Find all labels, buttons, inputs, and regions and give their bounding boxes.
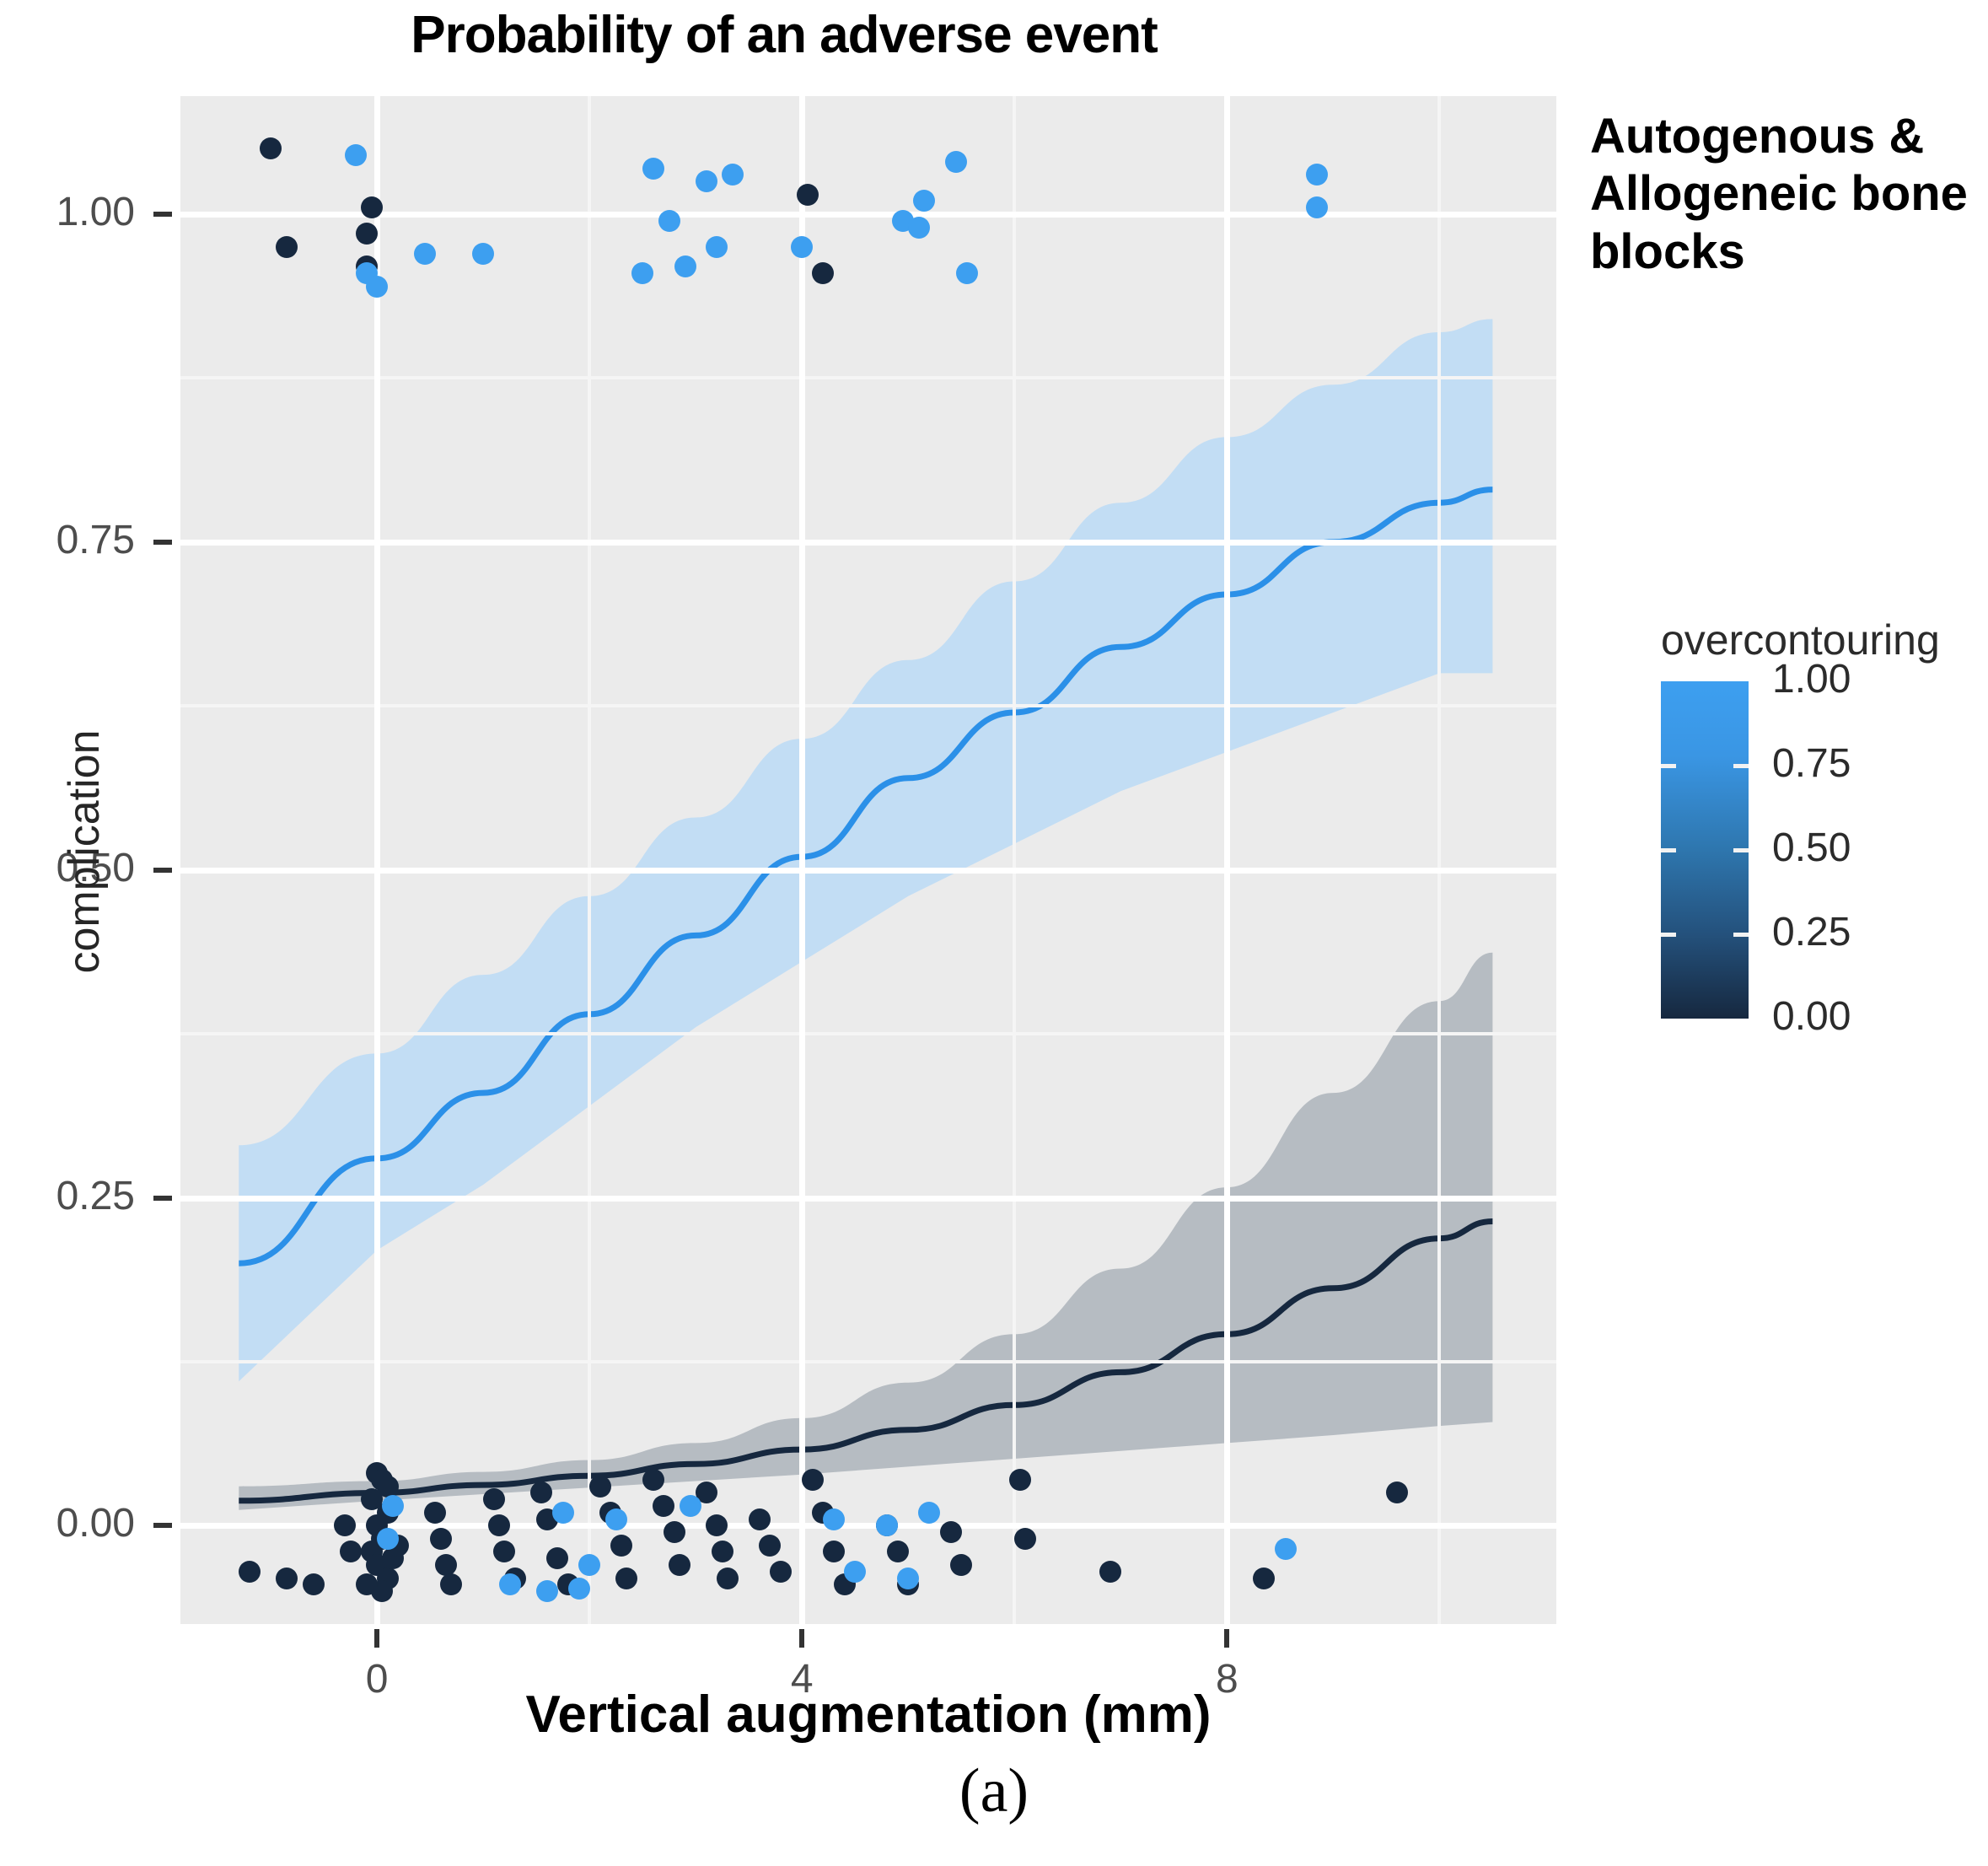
scatter-point-overcontouring-1 (876, 1514, 898, 1536)
x-tick-mark (1224, 1629, 1229, 1648)
legend-tick-mark (1733, 764, 1749, 768)
gridline-minor-horizontal (180, 1032, 1556, 1035)
scatter-point-overcontouring-0 (812, 262, 834, 284)
scatter-point-overcontouring-1 (722, 164, 744, 186)
scatter-point-overcontouring-0 (712, 1541, 733, 1562)
x-tick-mark (374, 1629, 379, 1648)
scatter-point-overcontouring-1 (366, 276, 388, 298)
legend-tick-label: 0.75 (1772, 740, 1851, 787)
scatter-point-overcontouring-1 (568, 1578, 590, 1600)
scatter-point-overcontouring-1 (605, 1508, 627, 1530)
scatter-point-overcontouring-0 (356, 1573, 378, 1595)
plot-panel (180, 96, 1556, 1624)
scatter-point-overcontouring-0 (530, 1482, 552, 1503)
gridline-minor-vertical (588, 96, 591, 1624)
gridline-major-horizontal (180, 1196, 1556, 1202)
gridline-minor-vertical (1437, 96, 1441, 1624)
scatter-point-overcontouring-0 (669, 1554, 690, 1576)
scatter-point-overcontouring-0 (430, 1528, 452, 1550)
x-tick-mark (799, 1629, 804, 1648)
y-axis-title: complication (59, 675, 110, 1029)
page-title: Probability of an adverse event (0, 5, 1568, 65)
scatter-point-overcontouring-0 (610, 1535, 632, 1557)
scatter-point-overcontouring-0 (950, 1554, 972, 1576)
scatter-point-overcontouring-0 (260, 137, 282, 159)
legend-tick-label: 1.00 (1772, 656, 1851, 702)
y-tick-mark (153, 1523, 172, 1528)
scatter-point-overcontouring-0 (797, 184, 819, 206)
scatter-point-overcontouring-1 (945, 151, 967, 173)
y-tick-mark (153, 212, 172, 217)
facet-annotation: Autogenous & Allogeneic bone blocks (1590, 108, 1986, 281)
legend-tick-label: 0.00 (1772, 993, 1851, 1040)
scatter-point-overcontouring-1 (1275, 1538, 1297, 1560)
scatter-point-overcontouring-0 (1009, 1469, 1031, 1491)
figure-container: Probability of an adverse event 0.000.25… (0, 0, 1988, 1866)
legend-tick-mark (1661, 933, 1676, 937)
gridline-minor-horizontal (180, 1360, 1556, 1363)
scatter-point-overcontouring-1 (578, 1554, 600, 1576)
scatter-point-overcontouring-1 (908, 217, 930, 239)
y-tick-mark (153, 1196, 172, 1201)
scatter-point-overcontouring-0 (493, 1541, 515, 1562)
scatter-point-overcontouring-0 (356, 223, 378, 245)
scatter-point-overcontouring-1 (536, 1580, 558, 1602)
scatter-point-overcontouring-0 (802, 1469, 824, 1491)
scatter-point-overcontouring-1 (414, 243, 436, 265)
gridline-major-vertical (799, 96, 805, 1624)
scatter-point-overcontouring-1 (631, 262, 653, 284)
x-axis-title: Vertical augmentation (mm) (180, 1685, 1556, 1745)
y-tick-mark (153, 868, 172, 873)
scatter-point-overcontouring-1 (897, 1568, 919, 1589)
scatter-point-overcontouring-1 (844, 1561, 866, 1583)
legend-tick-label: 0.25 (1772, 909, 1851, 955)
y-tick-mark (153, 540, 172, 545)
legend-tick-label: 0.50 (1772, 825, 1851, 871)
scatter-point-overcontouring-1 (674, 255, 696, 277)
y-tick-label: 1.00 (0, 189, 135, 235)
scatter-point-overcontouring-1 (382, 1495, 404, 1517)
chart-svg (180, 96, 1556, 1624)
gridline-minor-horizontal (180, 376, 1556, 379)
scatter-point-overcontouring-0 (483, 1488, 505, 1510)
legend-tick-mark (1733, 933, 1749, 937)
scatter-point-overcontouring-0 (1386, 1482, 1408, 1503)
gridline-major-horizontal (180, 868, 1556, 874)
y-tick-label: 0.25 (0, 1173, 135, 1219)
scatter-point-overcontouring-1 (377, 1528, 399, 1550)
scatter-point-overcontouring-1 (472, 243, 494, 265)
scatter-point-overcontouring-0 (1099, 1561, 1121, 1583)
scatter-point-overcontouring-1 (1306, 164, 1328, 186)
legend-tick-mark (1733, 848, 1749, 852)
gridline-major-vertical (374, 96, 380, 1624)
scatter-point-overcontouring-0 (1253, 1568, 1275, 1589)
y-tick-label: 0.00 (0, 1500, 135, 1546)
scatter-point-overcontouring-1 (552, 1502, 574, 1524)
figure-caption: (a) (0, 1756, 1988, 1827)
scatter-point-overcontouring-0 (770, 1561, 792, 1583)
scatter-point-overcontouring-0 (589, 1476, 611, 1498)
scatter-point-overcontouring-0 (424, 1502, 446, 1524)
scatter-point-overcontouring-1 (1306, 196, 1328, 218)
scatter-point-overcontouring-0 (361, 196, 383, 218)
scatter-point-overcontouring-0 (653, 1495, 674, 1517)
scatter-point-overcontouring-1 (642, 158, 664, 180)
scatter-point-overcontouring-1 (913, 190, 935, 212)
scatter-point-overcontouring-0 (340, 1541, 362, 1562)
gridline-major-vertical (1224, 96, 1230, 1624)
scatter-point-overcontouring-1 (696, 170, 717, 192)
legend-tick-mark (1661, 848, 1676, 852)
scatter-point-overcontouring-1 (680, 1495, 701, 1517)
scatter-point-overcontouring-0 (440, 1573, 462, 1595)
y-tick-label: 0.75 (0, 517, 135, 563)
gridline-minor-horizontal (180, 704, 1556, 707)
scatter-point-overcontouring-0 (1014, 1528, 1036, 1550)
gridline-minor-vertical (1013, 96, 1016, 1624)
scatter-point-overcontouring-0 (706, 1514, 728, 1536)
scatter-point-overcontouring-0 (642, 1469, 664, 1491)
scatter-point-overcontouring-1 (791, 236, 813, 258)
scatter-point-overcontouring-0 (664, 1521, 685, 1543)
gridline-major-horizontal (180, 212, 1556, 218)
scatter-point-overcontouring-1 (499, 1573, 521, 1595)
legend-tick-mark (1661, 764, 1676, 768)
scatter-point-overcontouring-0 (334, 1514, 356, 1536)
scatter-point-overcontouring-0 (887, 1541, 909, 1562)
scatter-point-overcontouring-1 (823, 1508, 845, 1530)
scatter-point-overcontouring-0 (759, 1535, 781, 1557)
scatter-point-overcontouring-0 (940, 1521, 962, 1543)
scatter-point-overcontouring-0 (717, 1568, 739, 1589)
scatter-point-overcontouring-1 (706, 236, 728, 258)
scatter-point-overcontouring-0 (303, 1573, 325, 1595)
scatter-point-overcontouring-0 (823, 1541, 845, 1562)
gridline-major-horizontal (180, 540, 1556, 546)
scatter-point-overcontouring-0 (488, 1514, 510, 1536)
scatter-point-overcontouring-1 (918, 1502, 940, 1524)
scatter-point-overcontouring-0 (546, 1547, 568, 1569)
scatter-point-overcontouring-1 (956, 262, 978, 284)
scatter-point-overcontouring-0 (435, 1554, 457, 1576)
scatter-point-overcontouring-0 (615, 1568, 637, 1589)
scatter-point-overcontouring-1 (658, 210, 680, 232)
scatter-point-overcontouring-0 (239, 1561, 261, 1583)
scatter-point-overcontouring-0 (276, 1568, 298, 1589)
scatter-point-overcontouring-0 (276, 236, 298, 258)
scatter-point-overcontouring-1 (345, 144, 367, 166)
scatter-point-overcontouring-0 (749, 1508, 771, 1530)
